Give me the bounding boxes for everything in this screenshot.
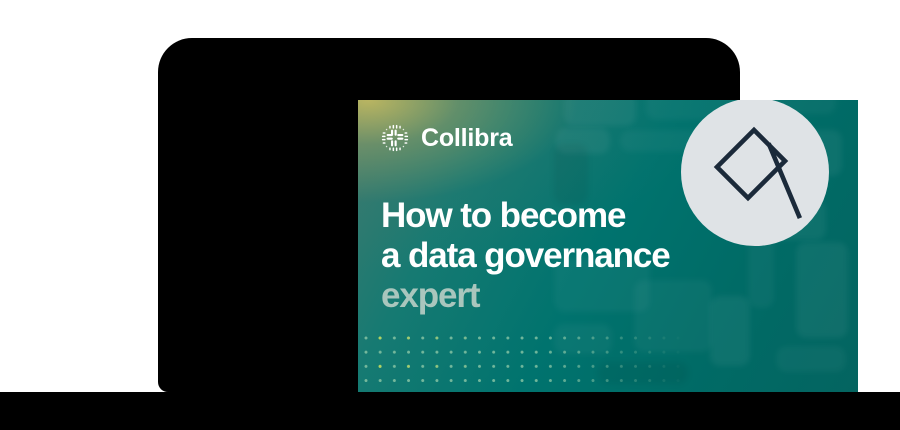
screenshot-stage: Collibra How to become a data governance… [0, 0, 900, 430]
flag-icon [703, 120, 807, 224]
background-panel [554, 144, 588, 204]
background-panel [796, 242, 848, 338]
laptop-device-frame: Collibra How to become a data governance… [158, 38, 740, 392]
background-panel [564, 100, 636, 126]
headline-line-3: expert [381, 276, 741, 316]
headline-line-2: a data governance [381, 236, 741, 276]
headline-block: How to become a data governance expert [381, 196, 741, 316]
laptop-base [0, 392, 900, 430]
background-panel [776, 346, 846, 372]
brand-name: Collibra [421, 126, 512, 151]
laptop-screen: Collibra How to become a data governance… [358, 100, 858, 406]
flag-badge [681, 100, 829, 246]
brand-lockup: Collibra [380, 123, 512, 153]
collibra-grid-mark-icon [380, 123, 410, 153]
